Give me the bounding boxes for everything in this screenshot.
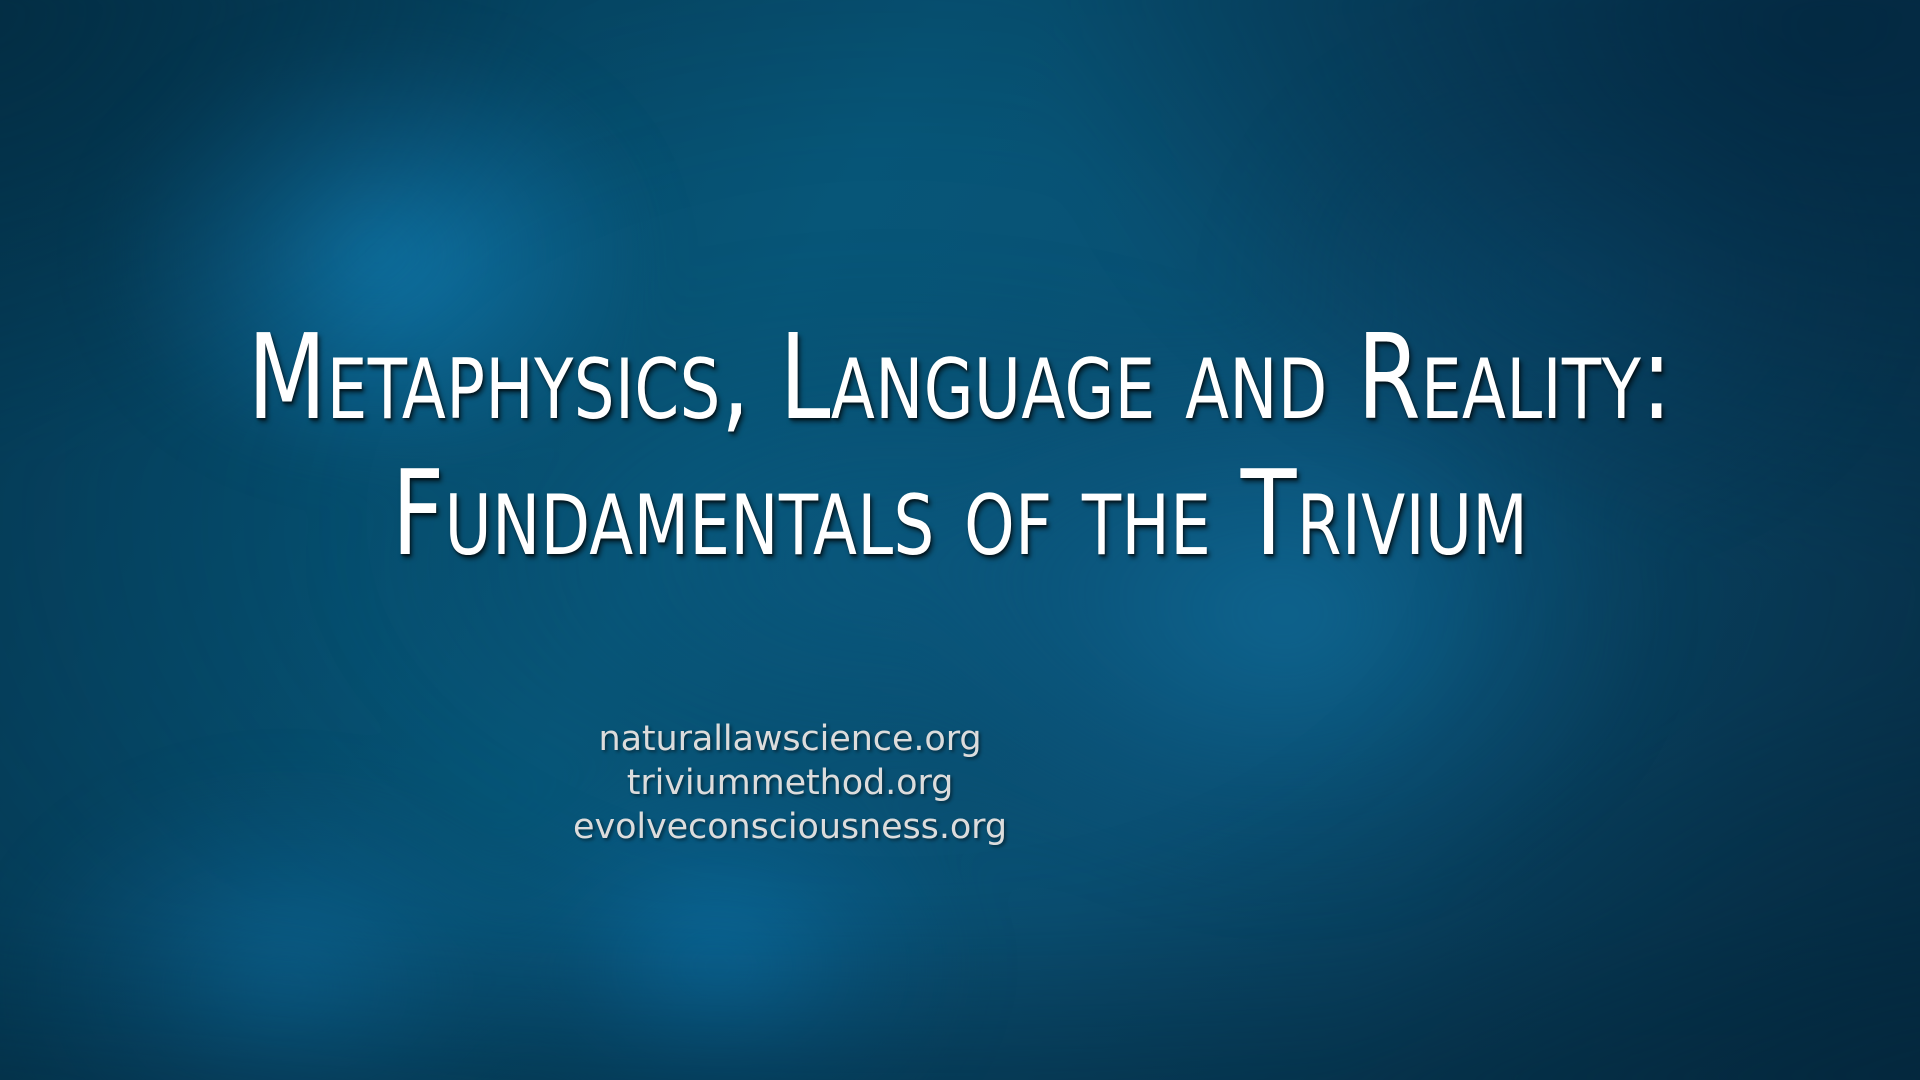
slide-content: Metaphysics, Language and Reality: Funda… bbox=[0, 0, 1920, 1080]
website-link-triviummethod[interactable]: triviummethod.org bbox=[0, 761, 1580, 805]
website-link-evolveconsciousness[interactable]: evolveconsciousness.org bbox=[0, 805, 1580, 849]
website-link-naturallawscience[interactable]: naturallawscience.org bbox=[0, 717, 1580, 761]
slide-title-line-2: Fundamentals of the Trivium bbox=[134, 454, 1785, 572]
slide-title-line-1: Metaphysics, Language and Reality: bbox=[134, 318, 1785, 436]
presentation-slide: Metaphysics, Language and Reality: Funda… bbox=[0, 0, 1920, 1080]
website-links-list: naturallawscience.org triviummethod.org … bbox=[0, 717, 1580, 849]
slide-title: Metaphysics, Language and Reality: Funda… bbox=[0, 318, 1920, 572]
